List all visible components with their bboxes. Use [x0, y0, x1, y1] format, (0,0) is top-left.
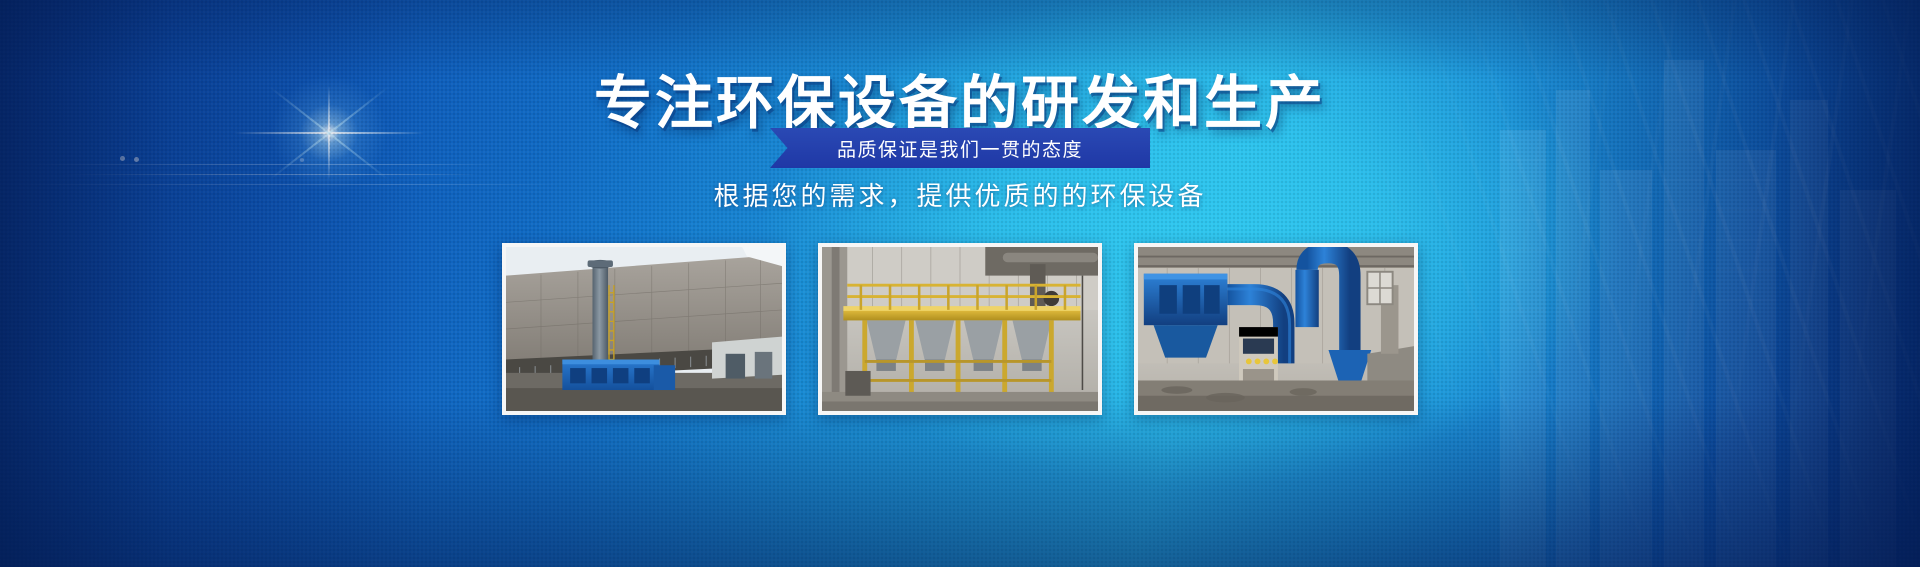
banner-subline: 根据您的需求，提供优质的的环保设备	[0, 176, 1920, 213]
gallery-photo-2[interactable]	[818, 243, 1102, 415]
banner-badge-container: 品质保证是我们一贯的态度	[0, 128, 1920, 168]
product-photo-gallery	[0, 243, 1920, 415]
quality-promise-badge: 品质保证是我们一贯的态度	[770, 128, 1150, 168]
gallery-photo-3[interactable]	[1134, 243, 1418, 415]
blue-ducting-cyclone-system-image	[1138, 247, 1414, 411]
workshop-yellow-platform-equipment-image	[822, 247, 1098, 411]
hero-banner: 专注环保设备的研发和生产 品质保证是我们一贯的态度 根据您的需求，提供优质的的环…	[0, 0, 1920, 567]
quality-promise-badge-label: 品质保证是我们一贯的态度	[837, 135, 1083, 162]
banner-content: 专注环保设备的研发和生产 品质保证是我们一贯的态度 根据您的需求，提供优质的的环…	[0, 0, 1920, 567]
factory-exterior-dust-collector-image	[506, 247, 782, 411]
gallery-photo-1[interactable]	[502, 243, 786, 415]
